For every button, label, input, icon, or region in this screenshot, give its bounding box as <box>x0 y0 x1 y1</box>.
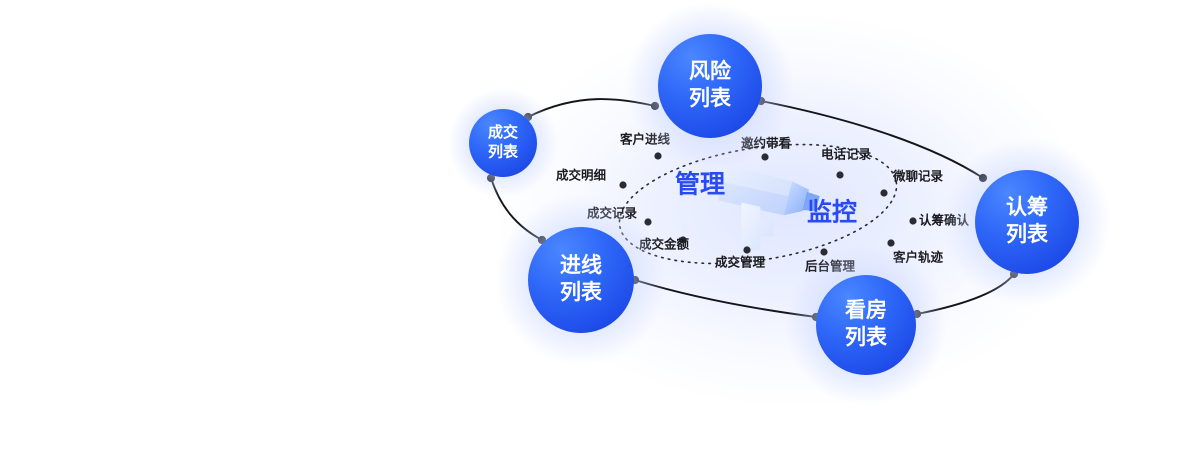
node-label-line2: 列表 <box>845 326 888 349</box>
node-viewing-list[interactable]: 看房列表 <box>785 244 947 406</box>
node-label-line1: 风险 <box>689 59 732 83</box>
node-label-line1: 认筹 <box>1006 195 1048 219</box>
center-word-manage: 管理 <box>675 170 725 199</box>
orbit-tag-dot <box>887 239 894 246</box>
connector-risk-to-subscribe <box>757 97 987 182</box>
node-label-line1: 看房 <box>845 298 887 322</box>
cctv-camera-icon <box>718 164 820 253</box>
orbit-tag-chat-record[interactable]: 微聊记录 <box>880 168 943 196</box>
relationship-diagram: 管理监控 客户进线邀约带看电话记录微聊记录认筹确认客户轨迹后台管理成交管理成交金… <box>0 0 1200 414</box>
node-circle <box>528 227 634 333</box>
node-circle <box>975 170 1079 274</box>
node-label-line2: 列表 <box>1006 223 1049 246</box>
node-label-line1: 成交 <box>488 123 518 141</box>
orbit-tag-label: 电话记录 <box>821 146 872 161</box>
node-label-line2: 列表 <box>689 87 732 110</box>
orbit-tag-dot <box>761 153 768 160</box>
node-circle <box>816 275 916 375</box>
node-inbound-list[interactable]: 进线列表 <box>495 194 667 366</box>
orbit-tag-dot <box>836 171 843 178</box>
orbit-tag-deal-manage[interactable]: 成交管理 <box>715 246 766 269</box>
connector-line <box>761 101 983 178</box>
center-word-monitor: 监控 <box>807 199 857 227</box>
orbit-tag-deal-detail[interactable]: 成交明细 <box>556 167 627 188</box>
node-subscribe-list[interactable]: 认筹列表 <box>943 138 1111 306</box>
orbit-tag-dot <box>743 246 750 253</box>
diagram-canvas: 管理监控 客户进线邀约带看电话记录微聊记录认筹确认客户轨迹后台管理成交管理成交金… <box>0 0 1200 414</box>
orbit-tag-label: 微聊记录 <box>892 168 944 183</box>
node-label-line2: 列表 <box>560 281 603 304</box>
orbit-tag-dot <box>880 189 887 196</box>
orbit-tag-dot <box>619 181 626 188</box>
orbit-tag-label: 成交管理 <box>715 254 766 269</box>
orbit-tag-dot <box>909 217 916 224</box>
node-risk-list[interactable]: 风险列表 <box>626 2 794 170</box>
node-circle <box>658 34 762 138</box>
node-label-line2: 列表 <box>488 143 519 161</box>
node-label-line1: 进线 <box>560 253 602 277</box>
orbit-tag-phone-record[interactable]: 电话记录 <box>821 146 872 178</box>
node-deal-list[interactable]: 成交列表 <box>448 88 558 198</box>
orbit-tag-label: 成交明细 <box>556 167 606 182</box>
